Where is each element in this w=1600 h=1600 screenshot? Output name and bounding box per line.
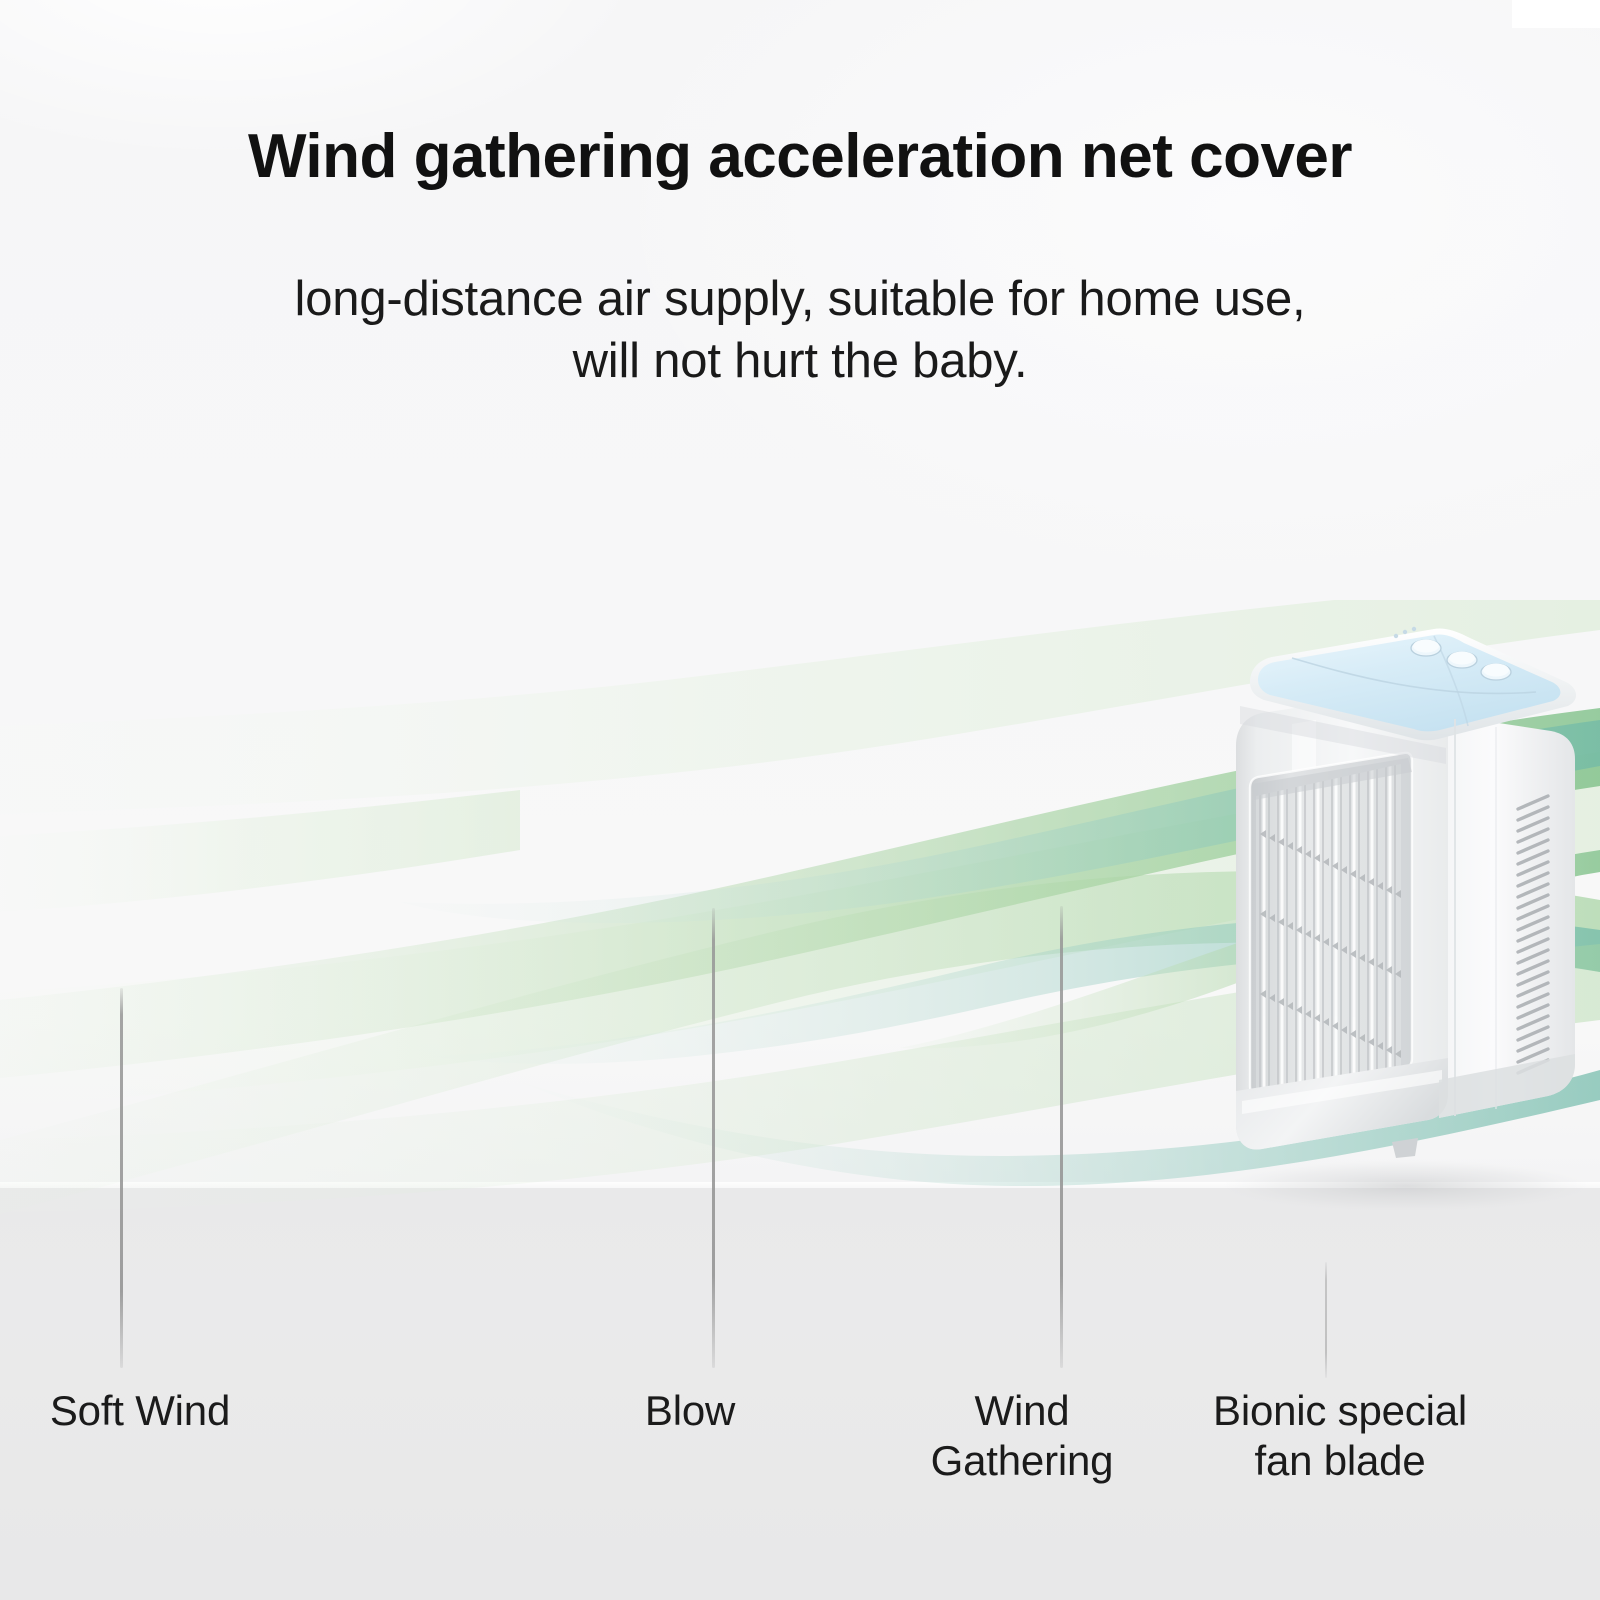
product-image-air-cooler [1196,596,1600,1216]
callout-line-soft-wind [120,988,123,1368]
callout-label-wind-gathering: Wind Gathering [931,1386,1114,1486]
top-right-corner-notch [1512,0,1600,28]
callout-label-blow: Blow [645,1386,735,1436]
callout-label-bionic-fan-blade: Bionic special fan blade [1213,1386,1467,1486]
callout-line-wind-gathering [1060,906,1063,1368]
callout-label-soft-wind: Soft Wind [50,1386,230,1436]
page-title: Wind gathering acceleration net cover [0,118,1600,196]
callout-line-bionic-fan-blade [1325,1262,1327,1378]
product-infographic: Wind gathering acceleration net cover lo… [0,0,1600,1600]
page-subtitle: long-distance air supply, suitable for h… [0,268,1600,392]
callout-line-blow [712,908,715,1368]
